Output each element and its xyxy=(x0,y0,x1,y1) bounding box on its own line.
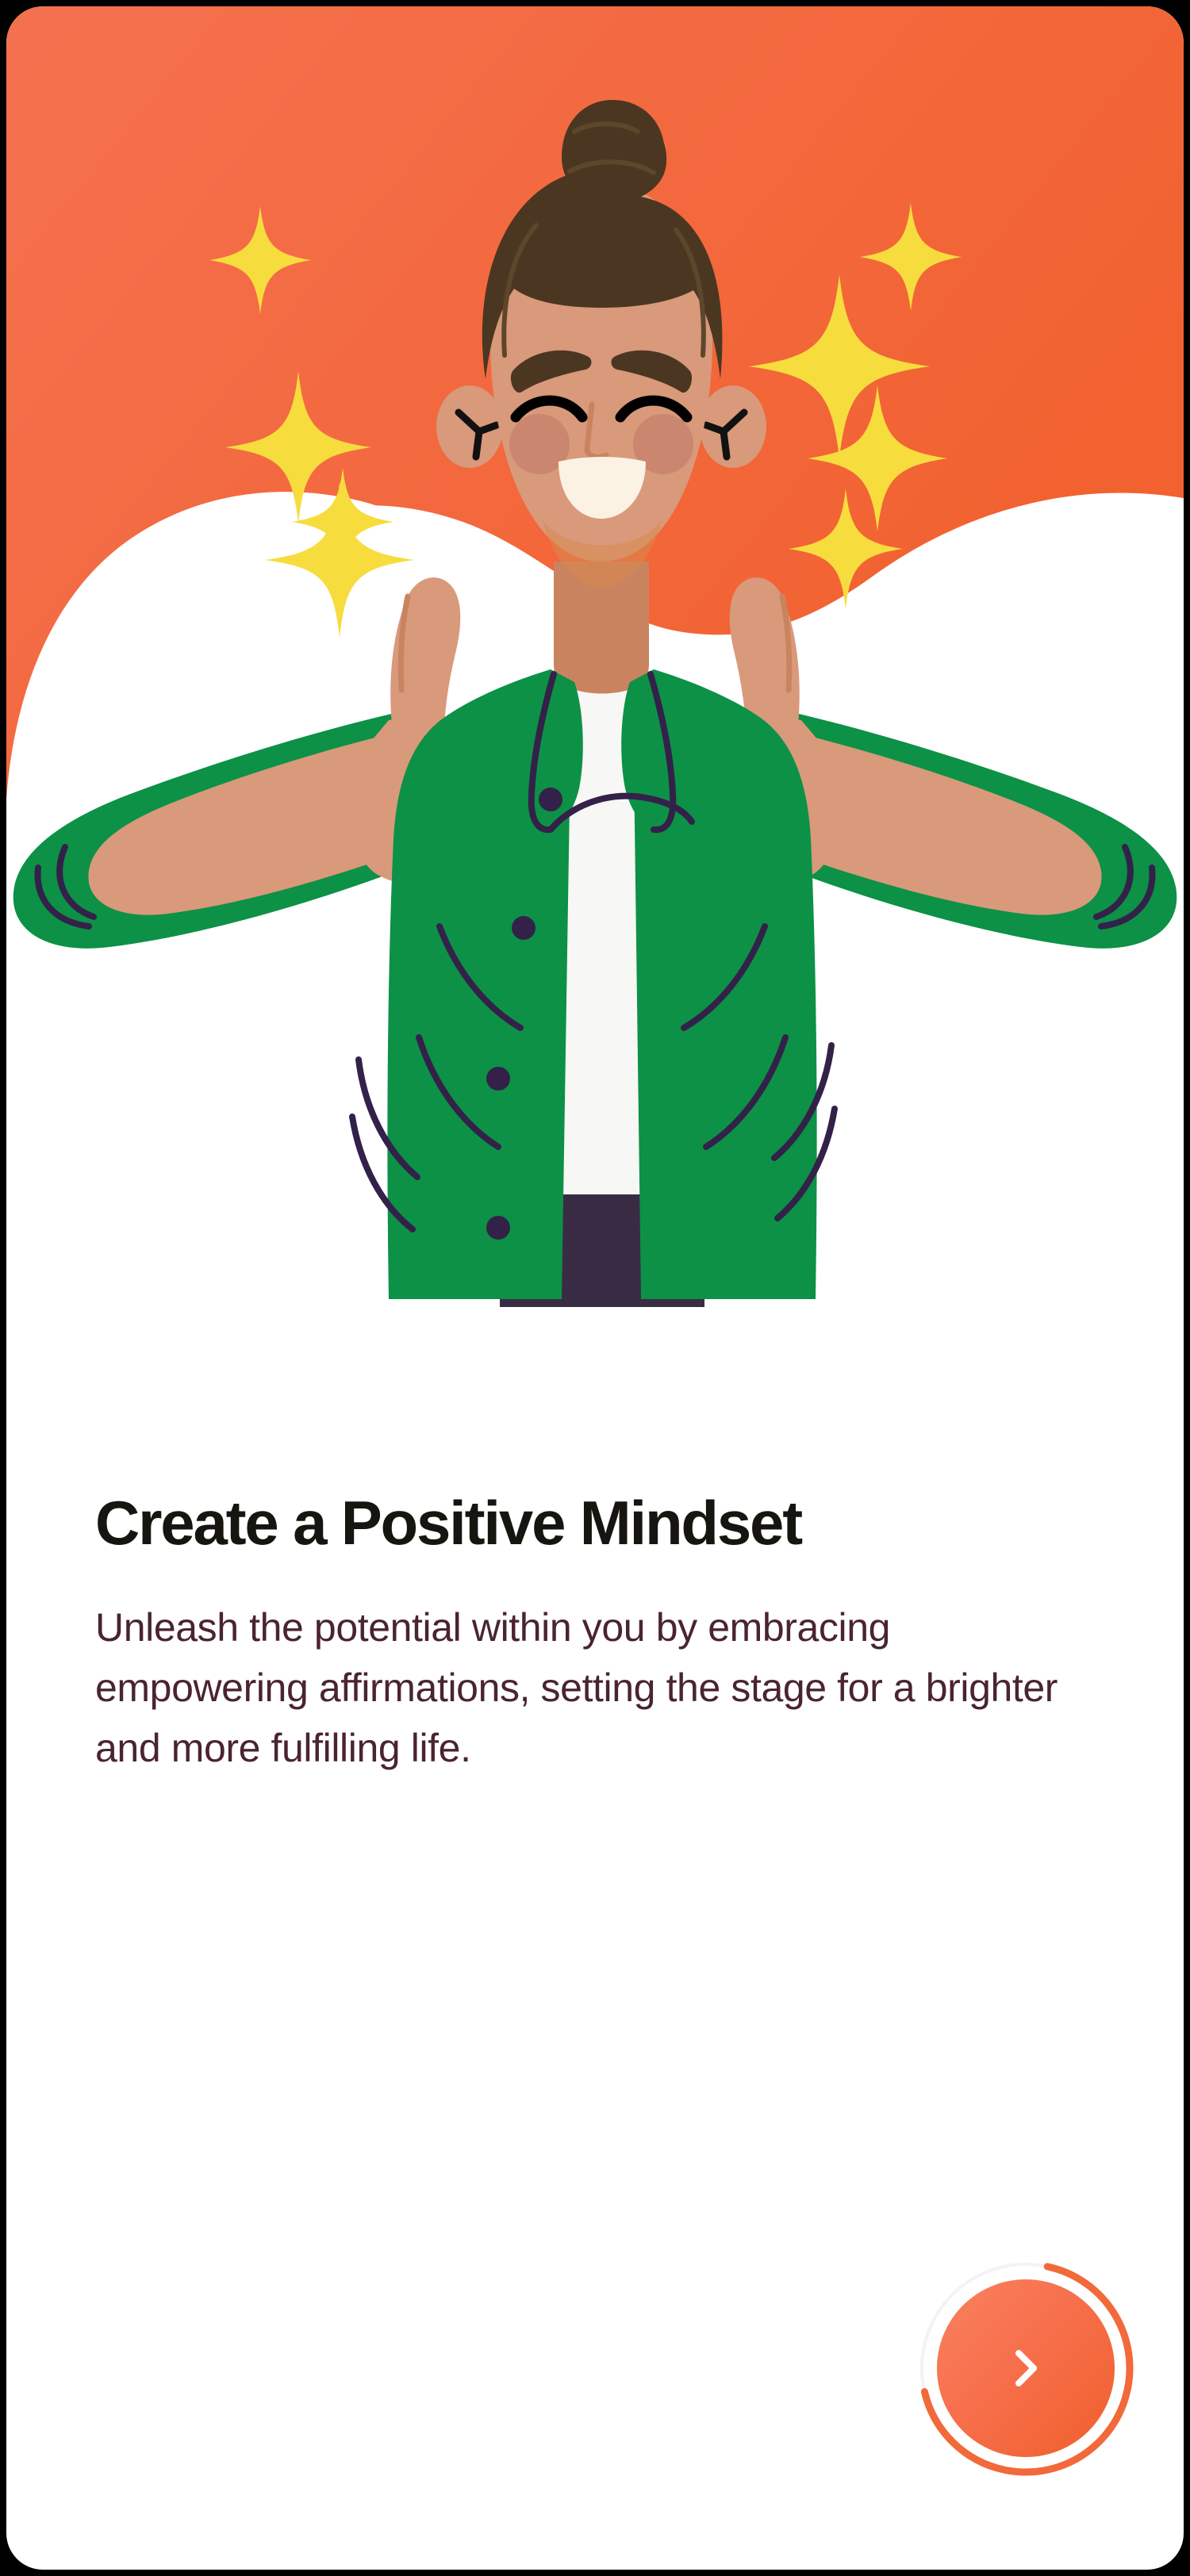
next-button[interactable] xyxy=(937,2279,1115,2457)
jacket-button-3 xyxy=(486,1067,510,1091)
jacket-button-4 xyxy=(486,1216,510,1240)
chevron-right-icon xyxy=(997,2340,1054,2397)
phone-frame: Create a Positive Mindset Unleash the po… xyxy=(0,0,1190,2576)
page-description: Unleash the potential within you by embr… xyxy=(95,1597,1103,1778)
page-title: Create a Positive Mindset xyxy=(95,1489,1127,1556)
positive-mindset-artwork xyxy=(6,6,1184,1307)
onboarding-screen: Create a Positive Mindset Unleash the po… xyxy=(6,6,1184,2570)
hero-illustration xyxy=(6,6,1184,1307)
text-block: Create a Positive Mindset Unleash the po… xyxy=(95,1489,1127,1778)
next-button-container xyxy=(915,2257,1137,2479)
jacket-button-1 xyxy=(539,788,562,811)
jacket-button-2 xyxy=(512,916,535,940)
hair-bun xyxy=(562,100,665,201)
